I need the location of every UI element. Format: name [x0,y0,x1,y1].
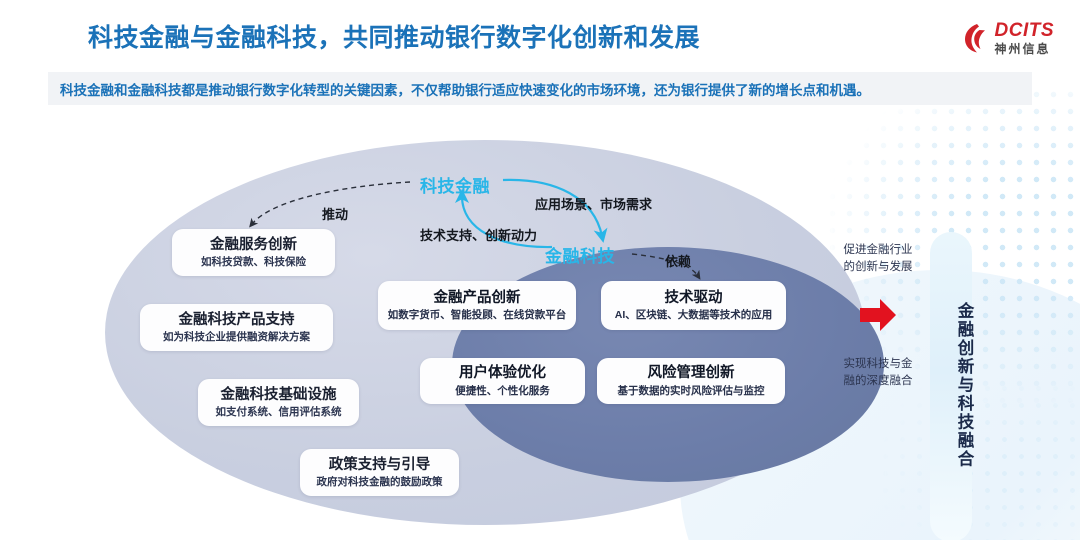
right-note-bottom: 实现科技与金 融的深度融合 [832,356,924,389]
card-title: 技术驱动 [665,290,723,307]
card-financial-product-innovation[interactable]: 金融产品创新 如数字货币、智能投顾、在线贷款平台 [378,281,576,330]
annotation-scene-demand: 应用场景、市场需求 [535,194,652,213]
card-title: 金融服务创新 [210,237,297,254]
slide-root: 科技金融与金融科技，共同推动银行数字化创新和发展 DCITS 神州信息 科技金融… [0,0,1080,540]
card-title: 政策支持与引导 [329,457,431,474]
card-subtitle: 基于数据的实时风险评估与监控 [618,385,765,397]
card-subtitle: 政府对科技金融的鼓励政策 [317,476,443,488]
logo-text-en: DCITS [995,21,1055,40]
card-policy-support[interactable]: 政策支持与引导 政府对科技金融的鼓励政策 [300,449,459,496]
card-fintech-product-support[interactable]: 金融科技产品支持 如为科技企业提供融资解决方案 [140,304,333,351]
card-title: 用户体验优化 [459,365,546,382]
right-arrow-icon [858,297,898,333]
card-fintech-infrastructure[interactable]: 金融科技基础设施 如支付系统、信用评估系统 [198,379,359,426]
card-subtitle: 如为科技企业提供融资解决方案 [163,331,310,343]
right-note-top: 促进金融行业 的创新与发展 [832,242,924,275]
annotation-drive: 推动 [322,204,348,223]
card-subtitle: 便捷性、个性化服务 [455,385,550,397]
card-subtitle: AI、区块链、大数据等技术的应用 [615,309,773,321]
card-subtitle: 如数字货币、智能投顾、在线贷款平台 [388,309,567,321]
card-risk-management-innovation[interactable]: 风险管理创新 基于数据的实时风险评估与监控 [597,358,785,404]
node-label-fintech: 金融科技 [545,242,615,267]
node-label-sci-tech-finance: 科技金融 [420,172,490,197]
card-title: 金融科技基础设施 [221,387,337,404]
card-subtitle: 如科技贷款、科技保险 [201,256,306,268]
diagram-stage: 科技金融 金融科技 推动 应用场景、市场需求 技术支持、创新动力 依赖 金融服务… [0,112,1080,540]
logo-text-cn: 神州信息 [995,43,1055,55]
card-title: 金融产品创新 [434,290,521,307]
card-subtitle: 如支付系统、信用评估系统 [216,406,342,418]
annotation-tech-support: 技术支持、创新动力 [420,225,537,244]
dcits-swoosh-icon [964,23,990,53]
brand-logo: DCITS 神州信息 [964,16,1055,60]
card-user-experience-optimization[interactable]: 用户体验优化 便捷性、个性化服务 [420,358,585,404]
card-technology-driven[interactable]: 技术驱动 AI、区块链、大数据等技术的应用 [601,281,786,330]
card-financial-service-innovation[interactable]: 金融服务创新 如科技贷款、科技保险 [172,229,335,276]
subtitle-bar: 科技金融和金融科技都是推动银行数字化转型的关键因素，不仅帮助银行适应快速变化的市… [48,72,1032,105]
subtitle-text: 科技金融和金融科技都是推动银行数字化转型的关键因素，不仅帮助银行适应快速变化的市… [48,79,870,99]
vertical-label-text: 金融创新与科技融合 [930,240,972,530]
card-title: 风险管理创新 [648,365,735,382]
annotation-depend: 依赖 [665,251,691,270]
page-title: 科技金融与金融科技，共同推动银行数字化创新和发展 [88,18,848,54]
card-title: 金融科技产品支持 [179,312,295,329]
